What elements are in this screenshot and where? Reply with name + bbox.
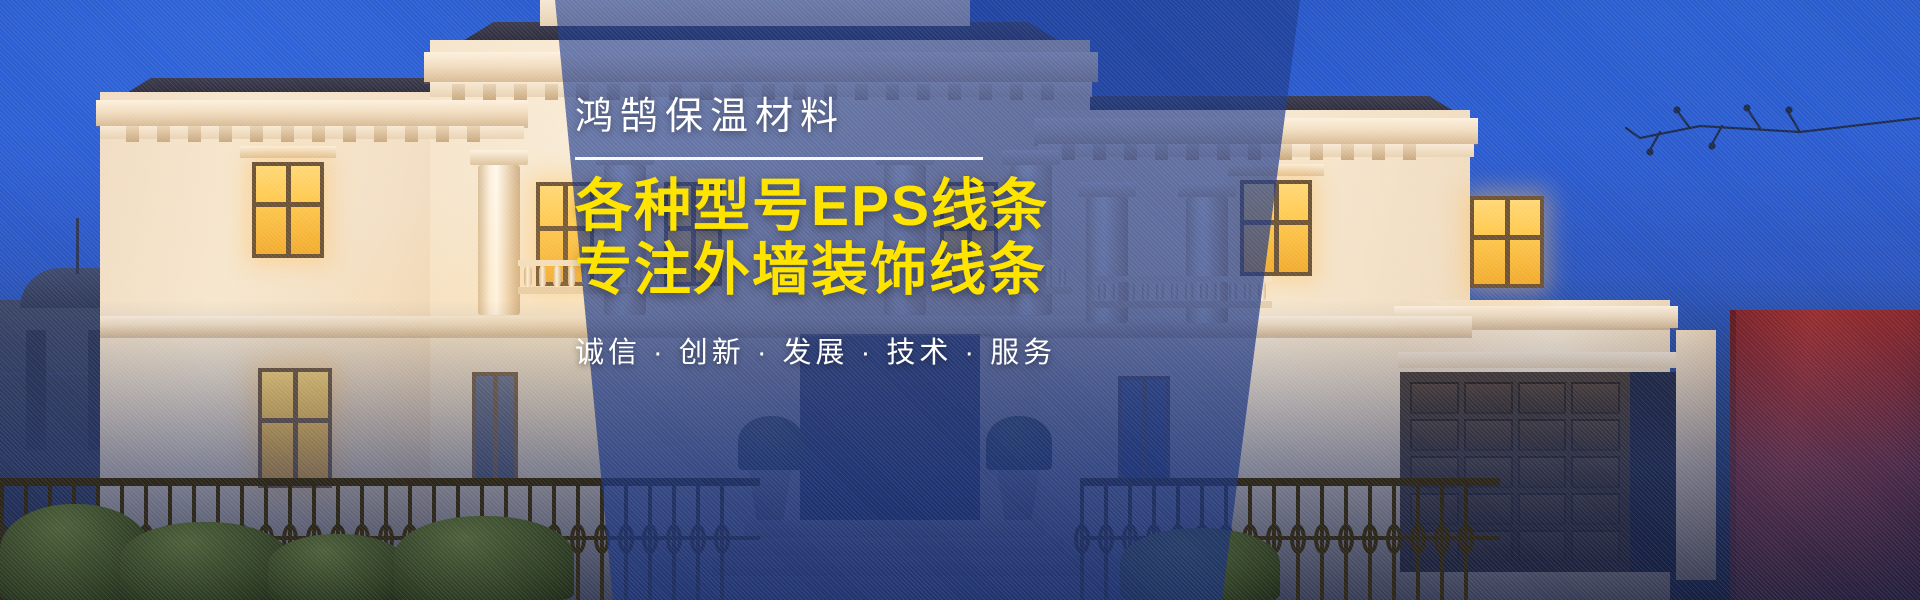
dentil-row-left <box>126 126 480 142</box>
tagline: 诚信 · 创新 · 发展 · 技术 · 服务 <box>575 329 1215 371</box>
hero-text-block: 鸿鹄保温材料 各种型号EPS线条 专注外墙装饰线条 诚信 · 创新 · 发展 ·… <box>575 96 1215 371</box>
divider-rule <box>575 157 983 160</box>
hero-banner: 鸿鹄保温材料 各种型号EPS线条 专注外墙装饰线条 诚信 · 创新 · 发展 ·… <box>0 0 1920 600</box>
headline-line-1: 各种型号EPS线条 <box>575 174 1215 238</box>
headline-line-2: 专注外墙装饰线条 <box>575 238 1215 302</box>
foreground-shrub-3 <box>268 534 408 600</box>
cornice-left-wing <box>96 100 528 126</box>
column-1 <box>478 165 520 315</box>
foreground-shrub-2 <box>120 522 290 600</box>
window-lit-6 <box>1470 196 1544 288</box>
brand-name: 鸿鹄保温材料 <box>575 96 1215 140</box>
foreground-shrub-4 <box>394 516 574 600</box>
window-lit-1 <box>252 162 324 258</box>
window-hood-1 <box>240 146 336 158</box>
column-capital-1 <box>470 150 528 165</box>
distant-antenna <box>76 218 79 274</box>
